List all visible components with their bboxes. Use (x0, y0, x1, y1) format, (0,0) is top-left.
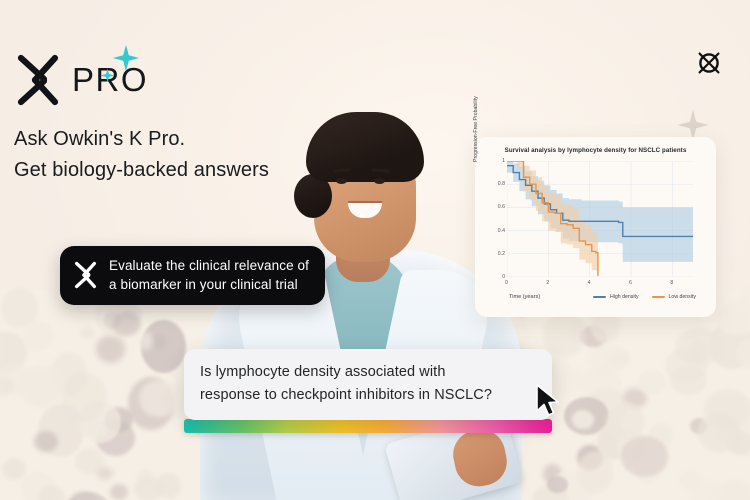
y-tick-label: 0.6 (498, 204, 505, 210)
cell-blob (675, 328, 723, 366)
prompt-chip-line-1: Evaluate the clinical relevance of (109, 256, 309, 275)
chart-y-axis-label: Progression-Free Probability (473, 96, 479, 162)
suggested-prompt-chip[interactable]: Evaluate the clinical relevance of a bio… (60, 246, 325, 305)
cell-blob (155, 473, 181, 499)
y-tick-label: 1 (502, 158, 505, 164)
survival-chart-card[interactable]: Survival analysis by lymphocyte density … (475, 137, 716, 317)
y-tick-label: 0.2 (498, 251, 505, 257)
chart-x-axis-label: Time (years) (509, 294, 540, 300)
y-tick-label: 0 (502, 274, 505, 280)
legend-swatch (593, 296, 606, 298)
mouse-pointer-icon (534, 383, 564, 419)
legend-swatch (652, 296, 665, 298)
cell-blob (698, 413, 740, 452)
promo-banner: PRO Ask Owkin's K Pro. Get biology-backe… (0, 0, 750, 500)
kaplan-meier-plot (507, 161, 693, 277)
legend-label: High density (610, 294, 639, 300)
cell-blob (587, 343, 624, 374)
headline: Ask Owkin's K Pro. Get biology-backed an… (14, 124, 344, 186)
cell-blob (18, 366, 65, 408)
cell-blob (96, 335, 125, 363)
question-line-2: response to checkpoint inhibitors in NSC… (200, 384, 536, 407)
cell-blob (80, 327, 94, 338)
user-question-bubble[interactable]: Is lymphocyte density associated with re… (184, 349, 552, 420)
legend-item: Low density (652, 294, 696, 300)
cell-blob (621, 436, 668, 477)
cell-blob (716, 302, 750, 335)
sparkle-icon (100, 68, 115, 83)
k-chromosome-logo-icon (14, 52, 62, 108)
cell-blob (577, 451, 614, 493)
chart-title: Survival analysis by lymphocyte density … (475, 147, 716, 154)
prompt-chip-line-2: a biomarker in your clinical trial (109, 275, 309, 294)
headline-line-1: Ask Owkin's K Pro. (14, 124, 344, 155)
sparkle-icon (112, 44, 140, 72)
x-tick-label: 4 (588, 280, 591, 286)
owkin-circle-x-icon[interactable] (696, 50, 722, 76)
cell-blob (139, 380, 179, 417)
cell-blob (606, 402, 645, 440)
legend-label: Low density (669, 294, 696, 300)
x-tick-label: 2 (546, 280, 549, 286)
cell-blob (23, 320, 54, 352)
headline-line-2: Get biology-backed answers (14, 155, 344, 186)
x-tick-label: 6 (629, 280, 632, 286)
legend-item: High density (593, 294, 639, 300)
x-tick-label: 0 (505, 280, 508, 286)
tablet-gradient-bar (184, 419, 552, 433)
cell-blob (97, 467, 113, 480)
y-tick-label: 0.8 (498, 181, 505, 187)
chart-y-ticks: 00.20.40.60.81 (489, 137, 505, 317)
cell-blob (638, 370, 666, 395)
cell-blob (2, 458, 26, 480)
y-tick-label: 0.4 (498, 228, 505, 234)
cell-blob (112, 312, 141, 336)
x-tick-label: 8 (670, 280, 673, 286)
cell-blob (110, 484, 127, 500)
chart-legend: High densityLow density (593, 294, 696, 300)
k-chromosome-logo-icon (73, 260, 98, 290)
cell-blob (543, 312, 587, 357)
eye-right (374, 178, 385, 184)
question-line-1: Is lymphocyte density associated with (200, 361, 536, 384)
cell-blob (670, 365, 707, 396)
